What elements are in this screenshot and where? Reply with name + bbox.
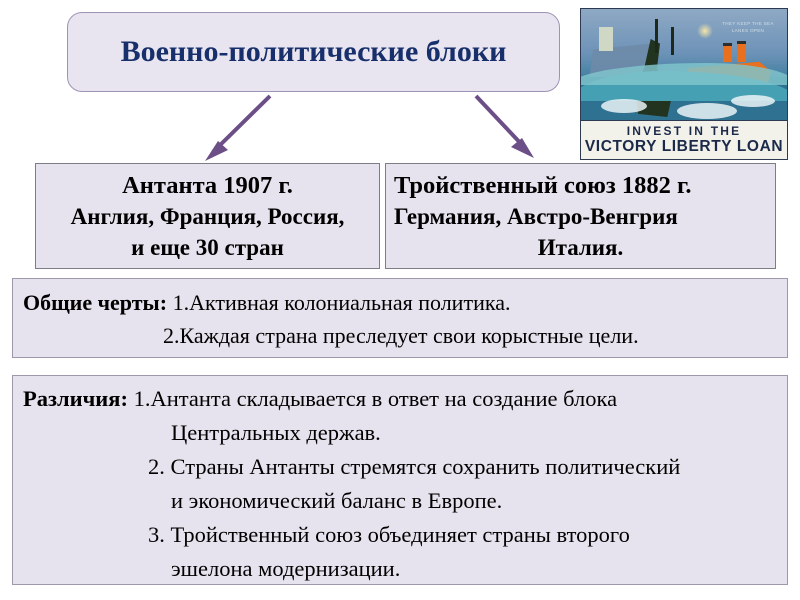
- differences-label: Различия:: [23, 386, 128, 411]
- common-features-label: Общие черты:: [23, 290, 167, 315]
- triple-alliance-member-italy: Италия.: [386, 232, 775, 263]
- differences-line-2: Центральных держав.: [171, 420, 381, 445]
- poster-caption-line-2: VICTORY LIBERTY LOAN: [585, 138, 783, 156]
- orange-ship-funnel-2: [737, 41, 746, 62]
- common-features-first-line: Общие черты: 1.Активная колониальная пол…: [23, 286, 777, 319]
- entente-heading: Антанта 1907 г.: [36, 170, 379, 201]
- poster-overlay-text: THEY KEEP THE SEA LANES OPEN: [715, 21, 781, 35]
- bloc-box-triple-alliance: Тройственный союз 1882 г. Германия, Авст…: [385, 163, 776, 269]
- slide-title-box: Военно-политические блоки: [67, 12, 560, 92]
- orange-ship-funnel-1: [723, 43, 732, 62]
- common-features-panel: Общие черты: 1.Активная колониальная пол…: [12, 278, 788, 358]
- ship-mast-1: [655, 19, 658, 53]
- poster-artwork: THEY KEEP THE SEA LANES OPEN: [581, 9, 787, 123]
- wwi-liberty-loan-poster: THEY KEEP THE SEA LANES OPEN INVEST IN T…: [580, 8, 788, 160]
- poster-caption: INVEST IN THE VICTORY LIBERTY LOAN: [581, 120, 787, 159]
- foam-2: [677, 103, 737, 119]
- differences-line-2-row: Центральных держав.: [23, 416, 777, 450]
- bloc-box-entente: Антанта 1907 г. Англия, Франция, Россия,…: [35, 163, 380, 269]
- triple-alliance-heading: Тройственный союз 1882 г.: [386, 170, 775, 201]
- sun-glow-icon: [697, 23, 713, 39]
- poster-caption-line-1: INVEST IN THE: [627, 124, 742, 138]
- common-features-item-2-line: 2.Каждая страна преследует свои корыстны…: [23, 319, 777, 352]
- triple-alliance-members: Германия, Австро-Венгрия: [386, 201, 775, 232]
- differences-line-3: 2. Страны Антанты стремятся сохранить по…: [148, 454, 680, 479]
- differences-line-6-row: эшелона модернизации.: [23, 552, 777, 586]
- differences-line-3-row: 2. Страны Антанты стремятся сохранить по…: [23, 450, 777, 484]
- foam-3: [731, 95, 775, 107]
- differences-first-line: Различия: 1.Антанта складывается в ответ…: [23, 382, 777, 416]
- arrow-to-entente: [205, 96, 270, 161]
- differences-line-5: 3. Тройственный союз объединяет страны в…: [148, 522, 630, 547]
- foam-1: [601, 99, 647, 113]
- differences-line-4: и экономический баланс в Европе.: [171, 488, 502, 513]
- entente-extra: и еще 30 стран: [36, 232, 379, 263]
- page-title: Военно-политические блоки: [121, 35, 507, 69]
- differences-line-4-row: и экономический баланс в Европе.: [23, 484, 777, 518]
- differences-line-1: 1.Антанта складывается в ответ на создан…: [134, 386, 618, 411]
- differences-panel: Различия: 1.Антанта складывается в ответ…: [12, 375, 788, 585]
- arrow-to-triple-alliance: [476, 96, 534, 158]
- differences-line-5-row: 3. Тройственный союз объединяет страны в…: [23, 518, 777, 552]
- common-features-item-2: 2.Каждая страна преследует свои корыстны…: [163, 323, 639, 348]
- background-ship-funnel: [599, 27, 613, 51]
- common-features-item-1: 1.Активная колониальная политика.: [173, 290, 511, 315]
- differences-line-6: эшелона модернизации.: [171, 556, 400, 581]
- entente-members: Англия, Франция, Россия,: [36, 201, 379, 232]
- ship-mast-2: [671, 27, 674, 55]
